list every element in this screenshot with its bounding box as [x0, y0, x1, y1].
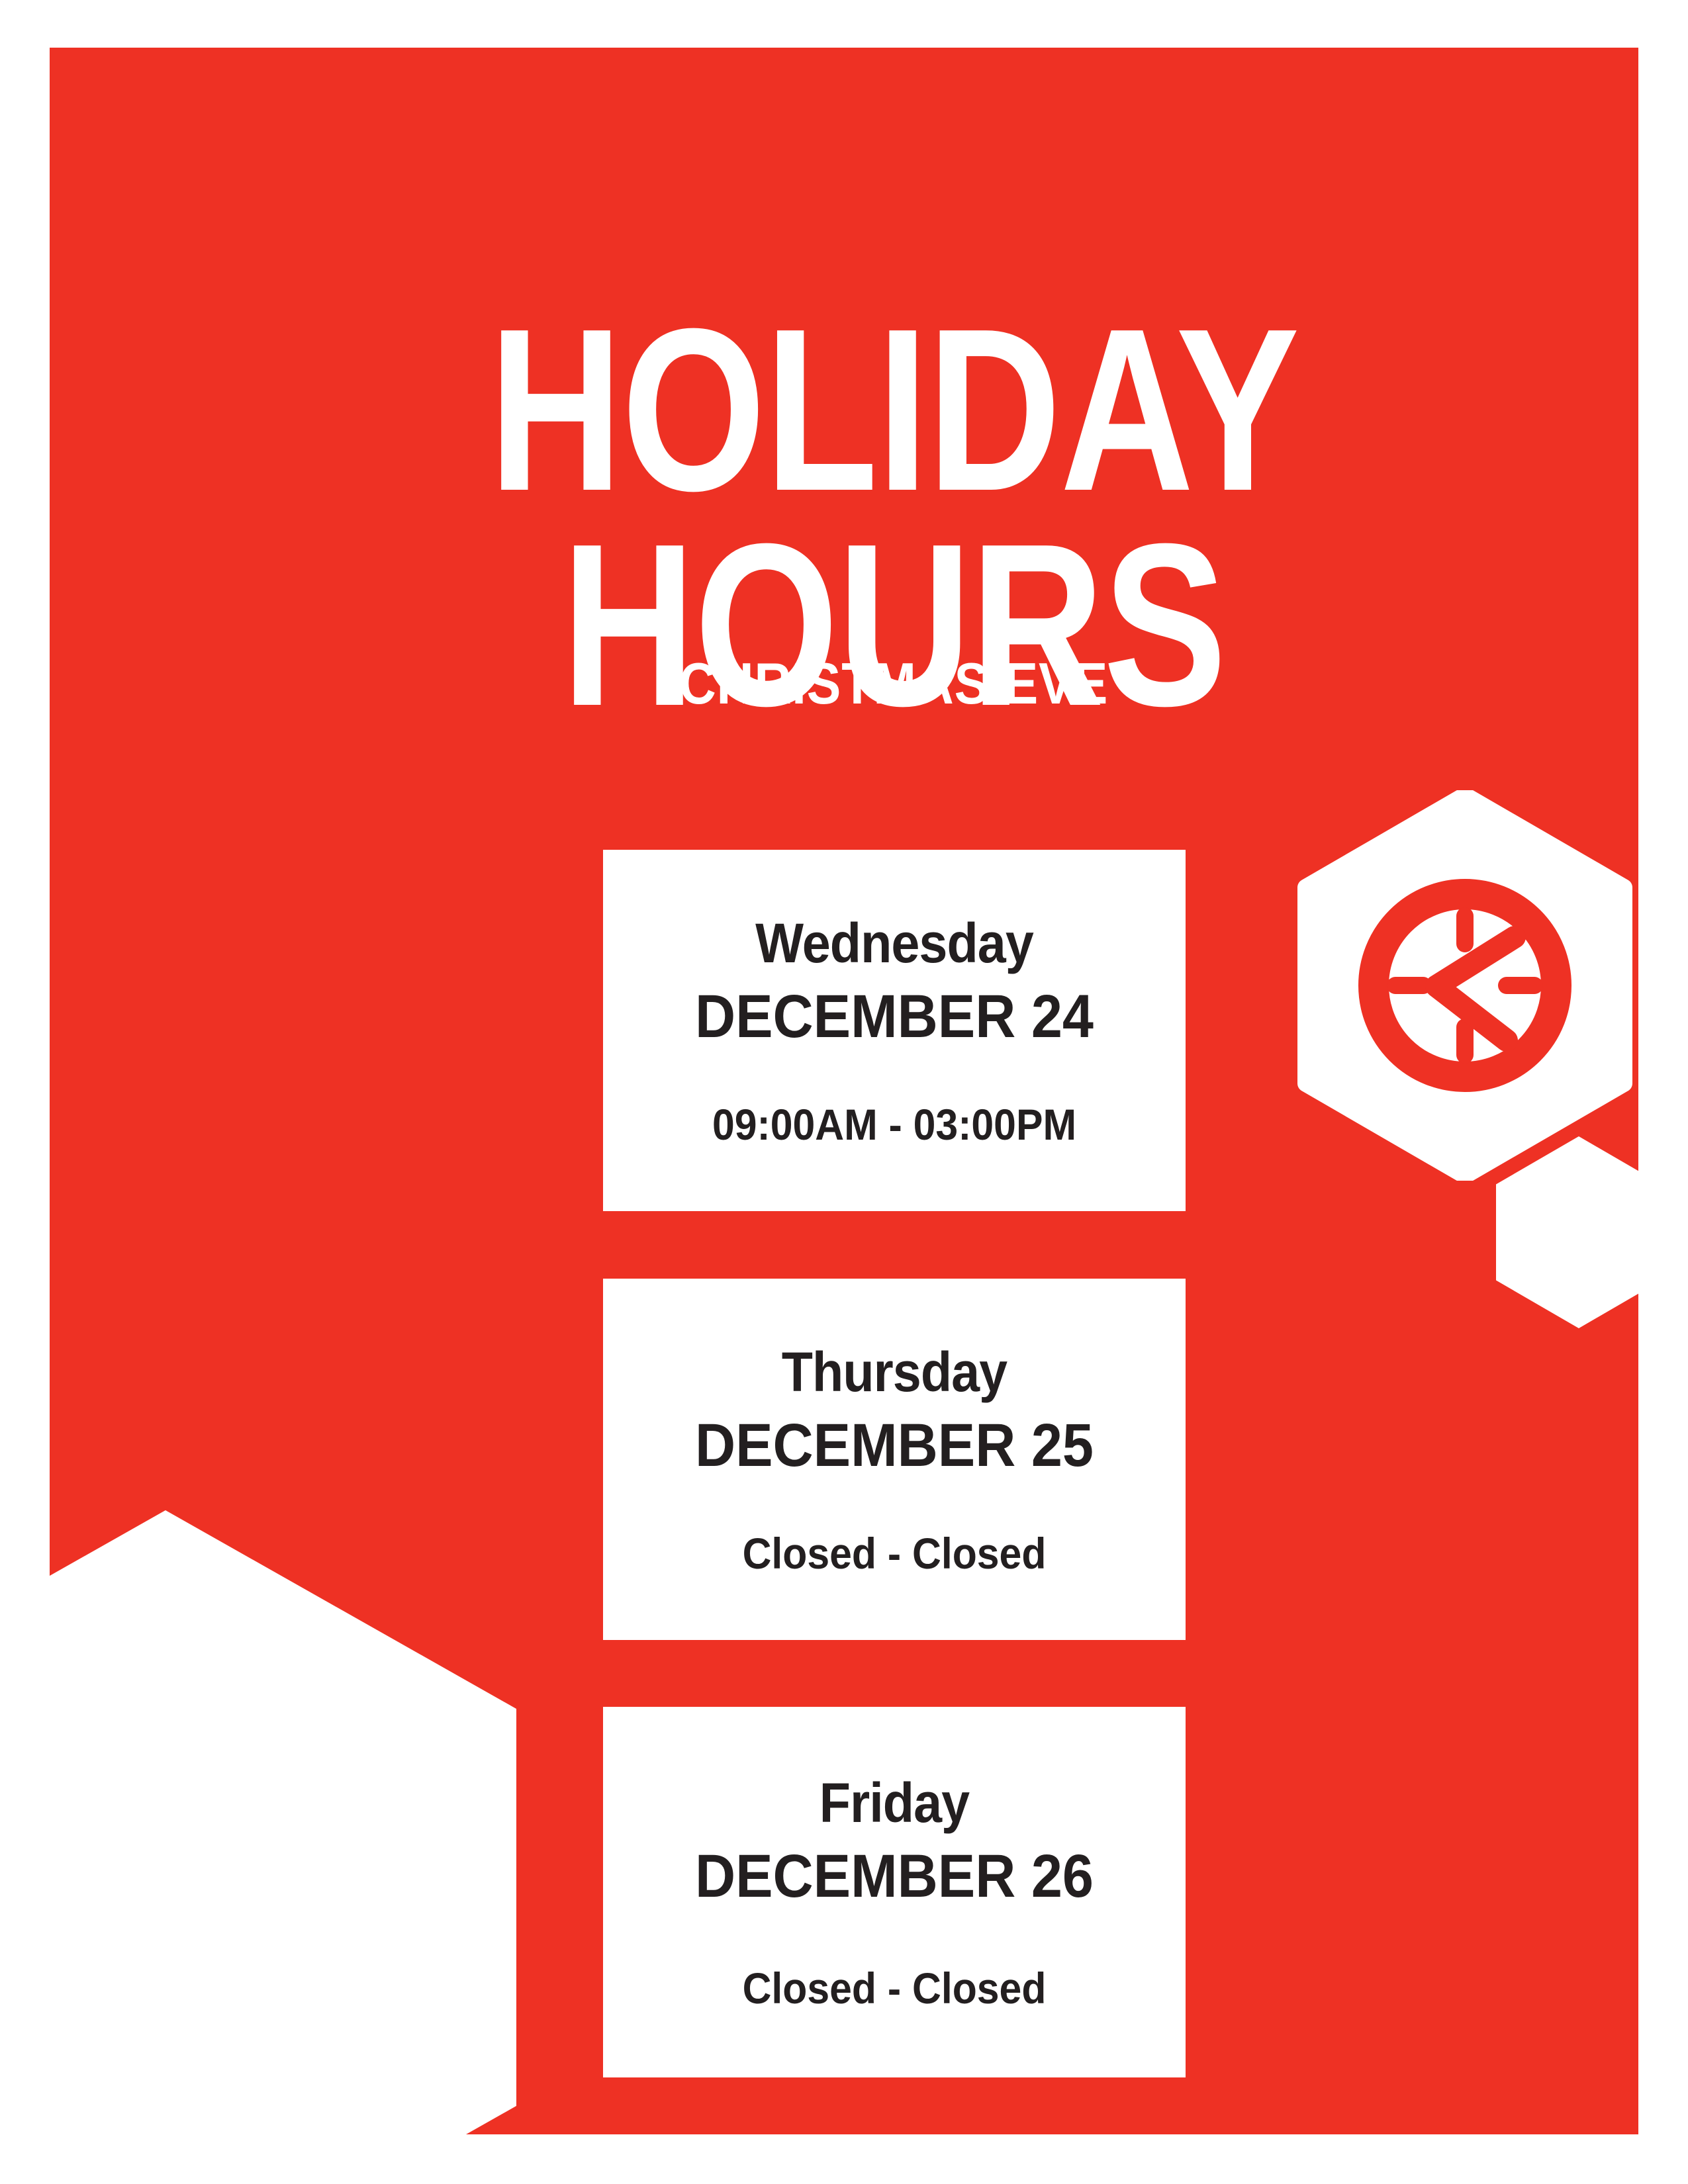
schedule-weekday: Wednesday — [626, 911, 1162, 976]
schedule-date: DECEMBER 25 — [626, 1411, 1162, 1480]
list-item: Wednesday DECEMBER 24 09:00AM - 03:00PM — [603, 850, 1186, 1211]
clock-icon — [1296, 790, 1634, 1181]
title-line-1: HOLIDAY — [258, 302, 1529, 518]
schedule-date: DECEMBER 26 — [626, 1842, 1162, 1911]
schedule-weekday: Friday — [626, 1771, 1162, 1835]
holiday-hours-poster: HOLIDAY HOURS CHRISTMAS EVE Wednesday DE… — [0, 0, 1688, 2184]
list-item: Friday DECEMBER 26 Closed - Closed — [603, 1707, 1186, 2077]
schedule-hours: 09:00AM - 03:00PM — [626, 1099, 1162, 1150]
hexagon-decoration-icon — [50, 1510, 516, 2134]
poster-red-background: HOLIDAY HOURS CHRISTMAS EVE Wednesday DE… — [50, 48, 1638, 2134]
schedule-date: DECEMBER 24 — [626, 982, 1162, 1052]
schedule-hours: Closed - Closed — [626, 1963, 1162, 2013]
list-item: Thursday DECEMBER 25 Closed - Closed — [603, 1279, 1186, 1640]
page-subtitle: CHRISTMAS EVE — [195, 650, 1593, 717]
schedule-hours: Closed - Closed — [626, 1528, 1162, 1578]
schedule-weekday: Thursday — [626, 1340, 1162, 1404]
